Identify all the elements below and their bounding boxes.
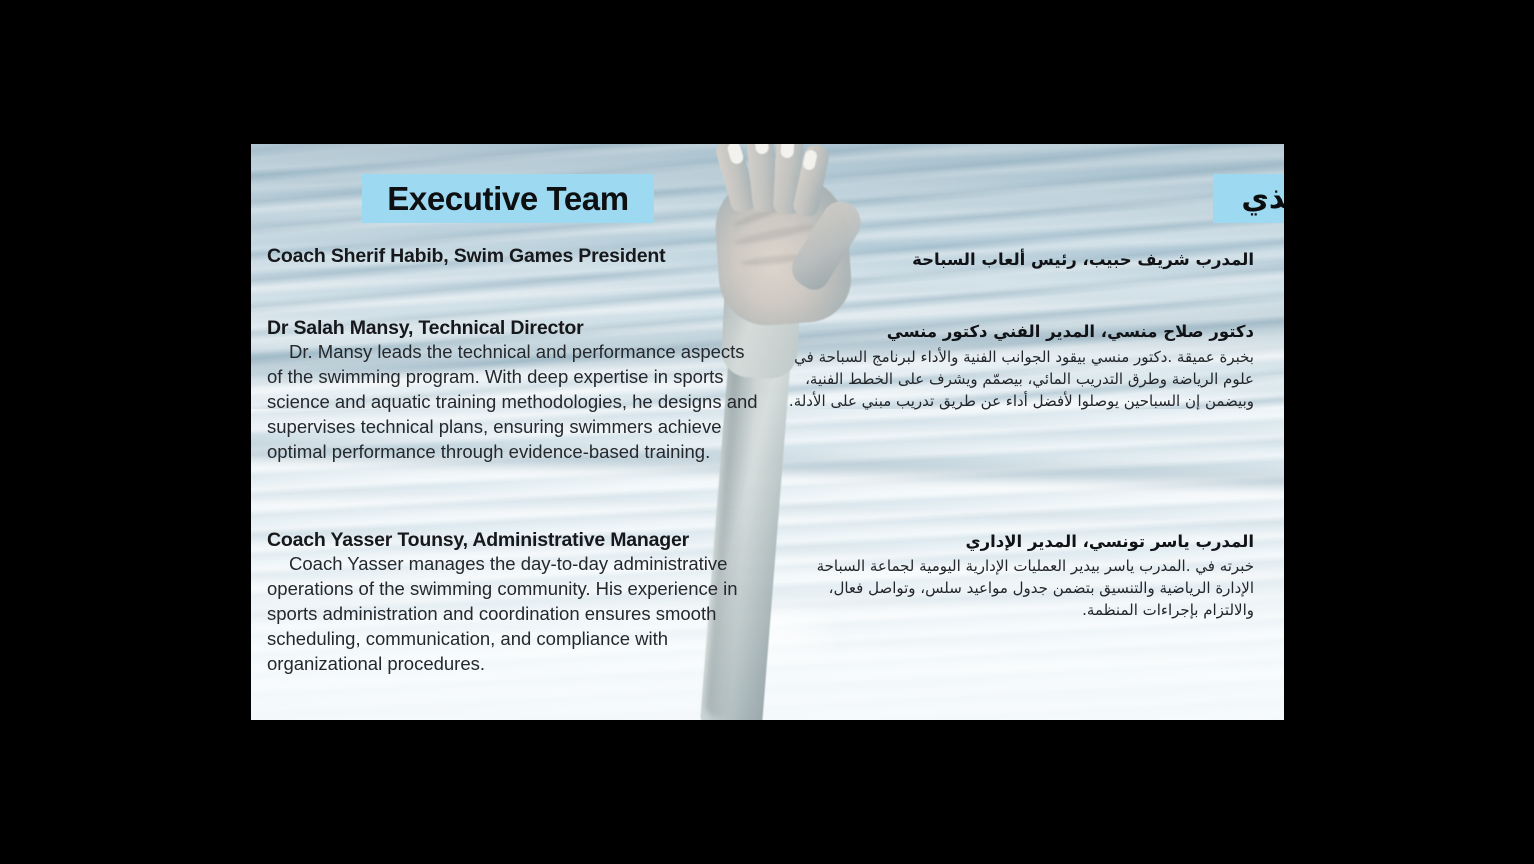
screen-root: Executive Team Coach Sherif Habib, Swim … [0,0,1534,864]
arabic-column: الفريق التنفيذي المدرب شريف حبيب، رئيس أ… [771,144,1284,720]
english-section-body-technical-director: Dr. Mansy leads the technical and perfor… [267,340,765,465]
english-section-body-administrative-manager: Coach Yasser manages the day-to-day admi… [267,552,765,677]
presentation-slide: Executive Team Coach Sherif Habib, Swim … [251,144,1284,720]
english-section-heading-administrative-manager: Coach Yasser Tounsy, Administrative Mana… [267,529,757,552]
arabic-section-heading-administrative-manager: المدرب ياسر تونسي، المدير الإداري [774,532,1254,553]
arabic-section-heading-president: المدرب شريف حبيب، رئيس ألعاب السباحة [774,250,1254,271]
arabic-section-heading-technical-director: دكتور صلاح منسي، المدير الفني دكتور منسي [774,322,1254,343]
arabic-title: الفريق التنفيذي [1241,181,1284,216]
english-title: Executive Team [387,180,628,218]
english-section-heading-president: Coach Sherif Habib, Swim Games President [267,245,757,268]
arabic-section-body-administrative-manager: خبرته في .المدرب ياسر بيدير العمليات الإ… [784,556,1254,621]
english-title-chip: Executive Team [362,174,654,223]
english-column: Executive Team Coach Sherif Habib, Swim … [251,144,771,720]
arabic-section-body-technical-director: بخبرة عميقة .دكتور منسي بيقود الجوانب ال… [784,347,1254,412]
english-section-heading-technical-director: Dr Salah Mansy, Technical Director [267,317,757,340]
arabic-title-chip: الفريق التنفيذي [1213,174,1284,223]
